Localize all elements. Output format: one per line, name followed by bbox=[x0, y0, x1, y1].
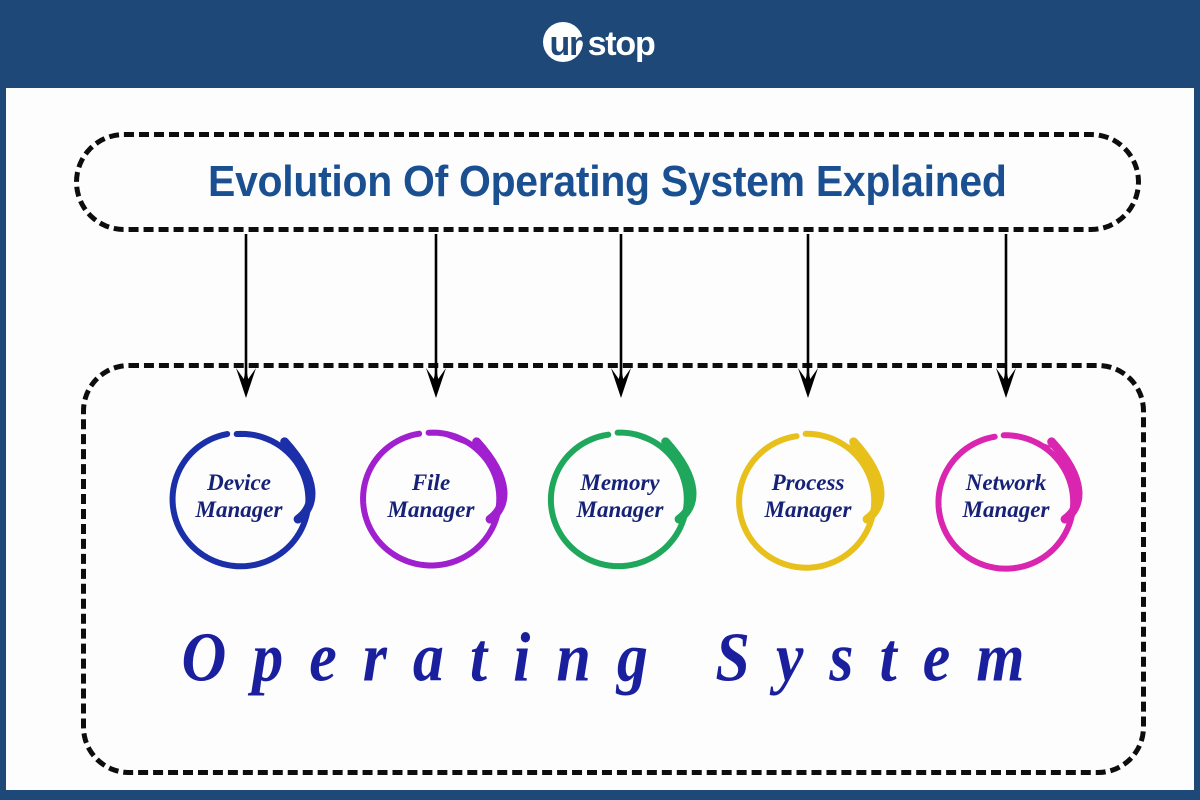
title-box: Evolution Of Operating System Explained bbox=[74, 132, 1141, 232]
logo-text-stop: stop bbox=[588, 23, 655, 65]
page-title: Evolution Of Operating System Explained bbox=[208, 157, 1007, 207]
header-band: un stop bbox=[0, 0, 1200, 88]
infographic-page: un stop Evolution Of Operating System Ex… bbox=[0, 0, 1200, 800]
operating-system-container bbox=[81, 363, 1146, 775]
logo-text-un: un bbox=[545, 23, 588, 65]
unstop-logo: un stop bbox=[545, 21, 654, 67]
diagram-canvas: Evolution Of Operating System Explained … bbox=[6, 88, 1194, 790]
operating-system-wordmark: Operating System bbox=[116, 619, 1116, 699]
